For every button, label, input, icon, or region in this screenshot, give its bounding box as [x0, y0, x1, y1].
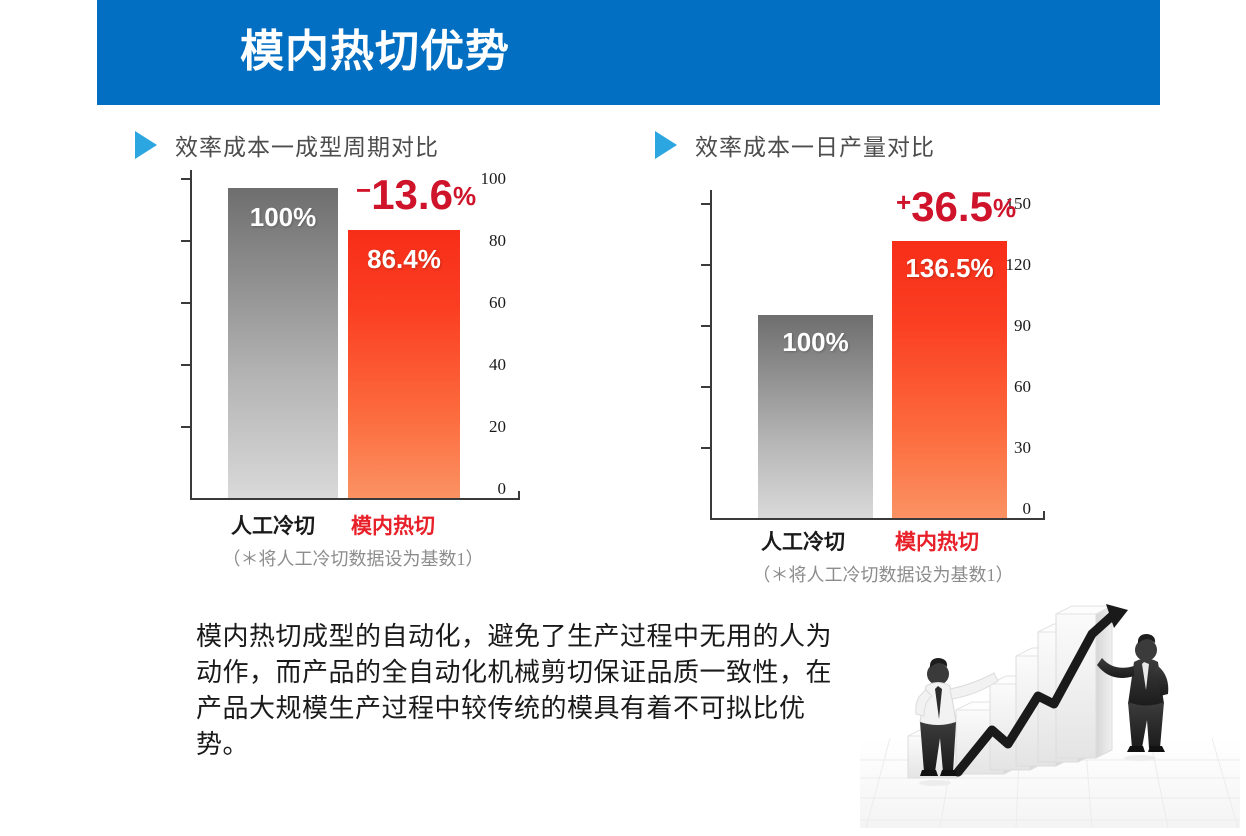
growth-chart-photo	[860, 588, 1240, 828]
y-tick-60	[701, 386, 710, 388]
chart-note: （＊将人工冷切数据设为基数1）	[713, 561, 1053, 587]
y-tick-label-40: 40	[489, 355, 506, 375]
bar-value-hotcut: 136.5%	[892, 253, 1007, 284]
chart-title: 效率成本一成型周期对比	[175, 128, 439, 162]
chart-title: 效率成本一日产量对比	[695, 128, 935, 162]
chart-title-row: 效率成本一日产量对比	[655, 128, 935, 162]
x-axis-endcap	[1043, 511, 1045, 520]
y-tick-90	[701, 325, 710, 327]
delta-percent: %	[453, 181, 476, 211]
triangle-right-icon	[135, 131, 157, 159]
body-paragraph: 模内热切成型的自动化，避免了生产过程中无用的人为动作，而产品的全自动化机械剪切保…	[196, 618, 856, 762]
plot-area: 150 120 90 60 30 0 100% 136.5% +36.5%	[710, 190, 1045, 520]
delta-number: 13.6	[371, 171, 453, 218]
growth-chart-illustration	[860, 588, 1240, 828]
y-axis	[710, 190, 712, 520]
delta-sign: +	[896, 187, 911, 217]
bar-value-manual: 100%	[758, 327, 873, 358]
y-tick-label-90: 90	[1014, 316, 1031, 336]
y-tick-20	[181, 426, 190, 428]
delta-annotation: −13.6%	[356, 174, 476, 216]
x-axis	[710, 518, 1045, 520]
bar-manual-cold-cut: 100%	[758, 315, 873, 518]
delta-percent: %	[993, 193, 1016, 223]
x-axis-endcap	[518, 491, 520, 500]
x-label-in-mold-hot-cut: 模内热切	[857, 526, 1017, 556]
y-tick-label-100: 100	[481, 169, 507, 189]
chart-note: （＊将人工冷切数据设为基数1）	[183, 545, 523, 571]
bar-manual-cold-cut: 100%	[228, 188, 338, 498]
bar-in-mold-hot-cut: 86.4%	[348, 230, 460, 498]
header-banner: 模内热切优势	[97, 0, 1160, 105]
delta-sign: −	[356, 175, 371, 205]
chart-title-row: 效率成本一成型周期对比	[135, 128, 439, 162]
y-tick-40	[181, 364, 190, 366]
y-tick-label-120: 120	[1006, 255, 1032, 275]
y-tick-60	[181, 302, 190, 304]
y-tick-label-60: 60	[489, 293, 506, 313]
page-title: 模内热切优势	[240, 24, 510, 80]
plot-area: 100 80 60 40 20 0 100% 86.4% −13.6%	[190, 170, 520, 500]
bar-value-manual: 100%	[228, 202, 338, 233]
bar-in-mold-hot-cut: 136.5%	[892, 241, 1007, 518]
bar-value-hotcut: 86.4%	[348, 244, 460, 275]
x-axis	[190, 498, 520, 500]
y-tick-150	[701, 203, 710, 205]
y-tick-30	[701, 447, 710, 449]
y-tick-label-0: 0	[498, 479, 507, 499]
y-tick-100	[181, 178, 190, 180]
y-axis	[190, 170, 192, 500]
delta-annotation: +36.5%	[896, 186, 1016, 228]
y-tick-label-80: 80	[489, 231, 506, 251]
y-tick-120	[701, 264, 710, 266]
y-tick-label-60: 60	[1014, 377, 1031, 397]
triangle-right-icon	[655, 131, 677, 159]
y-tick-label-0: 0	[1023, 499, 1032, 519]
x-label-in-mold-hot-cut: 模内热切	[313, 510, 473, 540]
chart-cycle-time: 效率成本一成型周期对比 100 80 60 40 20 0 100% 86.4%…	[135, 128, 605, 548]
y-tick-label-30: 30	[1014, 438, 1031, 458]
y-tick-80	[181, 240, 190, 242]
chart-daily-output: 效率成本一日产量对比 150 120 90 60 30 0 100% 136.5…	[655, 128, 1125, 563]
y-tick-label-20: 20	[489, 417, 506, 437]
delta-number: 36.5	[911, 183, 993, 230]
